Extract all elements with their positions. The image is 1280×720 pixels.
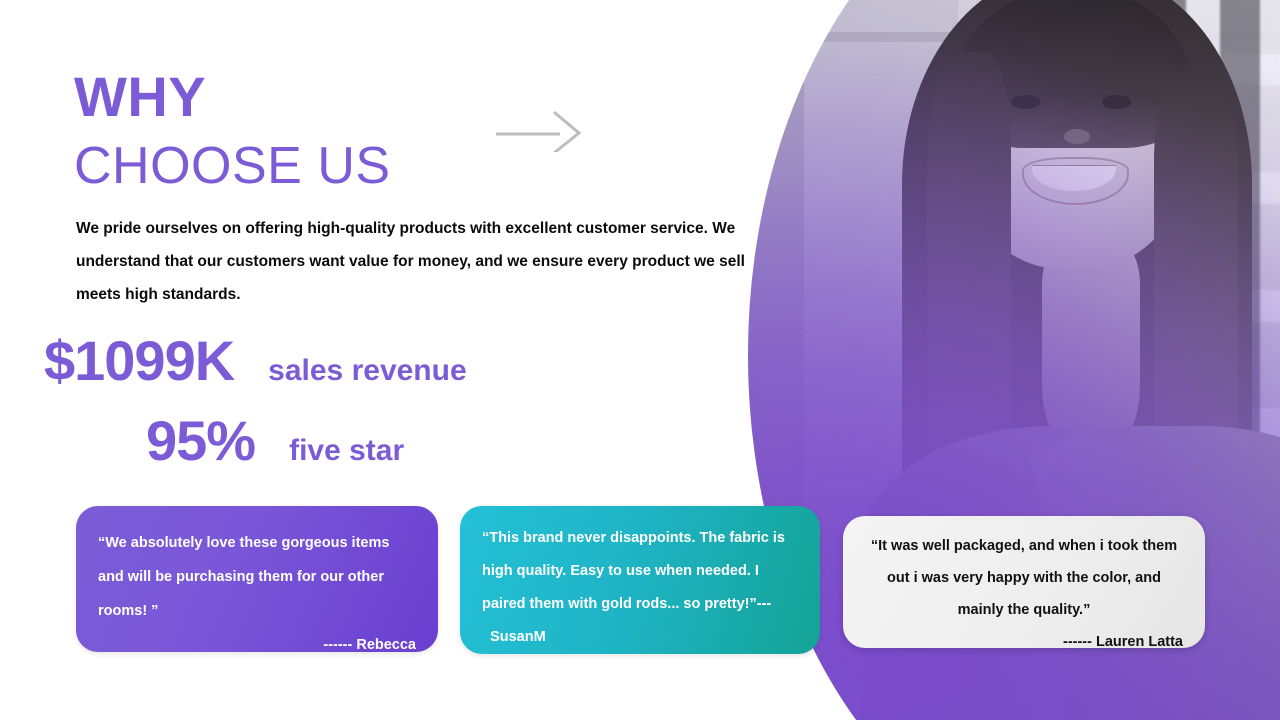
testimonial-quote: “This brand never disappoints. The fabri…	[482, 530, 785, 612]
testimonial-quote: “It was well packaged, and when i took t…	[865, 530, 1183, 626]
stat-label-five-star: five star	[289, 434, 404, 468]
testimonial-author-dashes: ---	[757, 596, 772, 612]
testimonial-quote-wrap: “This brand never disappoints. The fabri…	[482, 522, 798, 654]
testimonial-quote: “We absolutely love these gorgeous items…	[98, 526, 416, 628]
testimonial-card-lauren-latta[interactable]: “It was well packaged, and when i took t…	[843, 516, 1205, 648]
testimonial-author: SusanM	[490, 629, 546, 645]
testimonial-author: ------ Rebecca	[98, 628, 416, 662]
testimonial-card-rebecca[interactable]: “We absolutely love these gorgeous items…	[76, 506, 438, 652]
testimonial-author: ------ Lauren Latta	[865, 626, 1183, 658]
page-title-line2: CHOOSE US	[74, 140, 391, 192]
intro-paragraph: We pride ourselves on offering high-qual…	[76, 212, 748, 311]
page-title-line1: WHY	[74, 69, 206, 125]
arrow-right-icon	[494, 108, 586, 152]
stat-value-five-star: 95%	[146, 412, 255, 471]
stat-label-sales-revenue: sales revenue	[268, 354, 466, 388]
stat-five-star: 95% five star	[146, 412, 404, 471]
testimonial-card-susanm[interactable]: “This brand never disappoints. The fabri…	[460, 506, 820, 654]
stat-value-sales-revenue: $1099K	[44, 332, 234, 391]
stat-sales-revenue: $1099K sales revenue	[44, 332, 467, 391]
slide-canvas: WHY CHOOSE US We pride ourselves on offe…	[0, 0, 1280, 720]
